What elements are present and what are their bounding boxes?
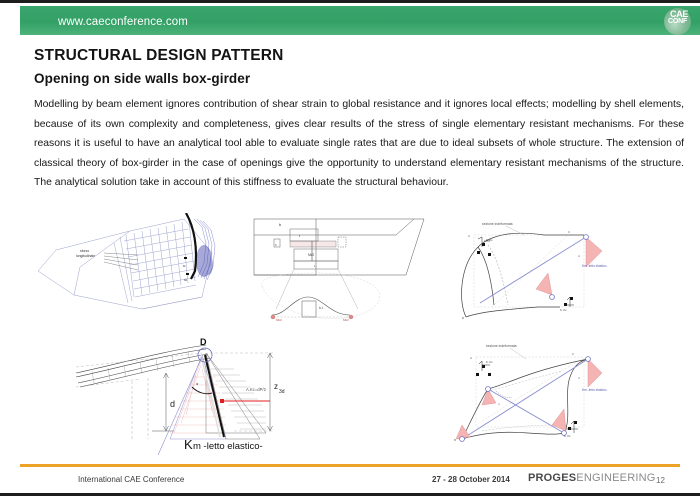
body-paragraph: Modelling by beam element ignores contri… [34, 95, 684, 193]
label-mt-right: Mt/2 [343, 318, 349, 322]
label-dim-d: d [578, 254, 580, 258]
label-sezione-indeformata-top: sezione indeformata [482, 222, 513, 226]
page-title: STRUCTURAL DESIGN PATTERN [34, 47, 284, 65]
label-d: d [170, 399, 175, 409]
label-mesh-node-a: M [183, 264, 186, 268]
label-node-c-b: C [572, 352, 575, 356]
label-akc: A.Kc=dP/2 [246, 387, 267, 392]
figure-elastic-bed: d z 3d [74, 331, 304, 456]
label-z3d-sub: 3d [279, 389, 285, 395]
label-alpha: α [196, 381, 199, 386]
label-alpha-bottom: α [498, 402, 500, 406]
label-km-top: Km -letto elastico- [582, 264, 608, 268]
label-force-top: K, Kc [486, 238, 493, 242]
header-bar: www.caeconference.com CAE CONF [20, 6, 700, 35]
figure-box-girder-section: Mt/2 L b t h [246, 211, 426, 336]
figure-grid: sforzo longitudinale M Mt [34, 211, 684, 456]
elastic-bed-svg: d z 3d [74, 331, 304, 456]
label-node-c: C [568, 230, 571, 234]
label-sezione-indeformata-bottom: sezione indeformata [486, 344, 517, 348]
label-force-bottom: K, Kc [560, 308, 567, 312]
figure-resistant-mechanism-bottom: α sezione indeformata K, Kc Km -letto el… [452, 335, 652, 453]
mechanism-bottom-svg: α sezione indeformata K, Kc Km -letto el… [452, 335, 652, 453]
label-km-rest: m -letto elastico- [193, 441, 263, 452]
box-girder-svg: Mt/2 L b t h [246, 211, 426, 336]
mechanism-top-svg: sezione indeformata K, Kc Km -letto elas… [452, 215, 652, 327]
logo-cae-text: CAE [670, 10, 688, 18]
footer-date-label: 27 - 28 October 2014 [432, 475, 510, 484]
label-h: h [275, 243, 277, 247]
label-L: L [314, 264, 316, 268]
label-longitudinale: longitudinale [76, 254, 95, 258]
footer-brand-bold: PROGES [528, 472, 576, 484]
label-D: D [200, 337, 207, 347]
header-url-text: www.caeconference.com [58, 16, 188, 28]
label-mt-top: Mt/2 [308, 253, 314, 257]
fem-mesh-svg: sforzo longitudinale M Mt [34, 213, 234, 323]
label-mt-left: Mt/2 [276, 318, 282, 322]
label-node-b-b: B [454, 438, 456, 442]
label-dim-d-b: d [578, 376, 580, 380]
footer-conference-label: International CAE Conference [78, 475, 184, 484]
slide-root: www.caeconference.com CAE CONF STRUCTURA… [0, 0, 700, 496]
label-node-a: A [468, 234, 470, 238]
label-km-k: K [184, 437, 193, 452]
footer-page-number: 12 [656, 476, 665, 485]
label-node-a-b: A [470, 356, 472, 360]
page-subtitle: Opening on side walls box-girder [34, 71, 250, 86]
footer-brand: PROGESENGINEERING [528, 472, 656, 484]
label-force-bottom-b: K, Kc [564, 434, 571, 438]
label-b: b [279, 222, 282, 227]
label-km-bottom: Km -letto elastico- [582, 388, 608, 392]
label-bt: b-t [319, 306, 323, 310]
figure-resistant-mechanism-top: sezione indeformata K, Kc Km -letto elas… [452, 215, 652, 327]
label-force-top-b: K, Kc [486, 360, 493, 364]
footer-brand-light: ENGINEERING [576, 472, 655, 484]
label-node-b: B [462, 316, 464, 320]
footer-rule [20, 464, 680, 467]
cae-conference-logo-icon: CAE CONF [663, 7, 694, 36]
label-z3d: z [274, 382, 278, 391]
figure-fem-mesh-deformation: sforzo longitudinale M Mt [34, 213, 234, 323]
label-mesh-node-b: Mt [184, 278, 187, 282]
label-t: t [299, 234, 300, 238]
logo-conf-text: CONF [668, 18, 687, 25]
label-sforzo: sforzo [80, 249, 89, 253]
